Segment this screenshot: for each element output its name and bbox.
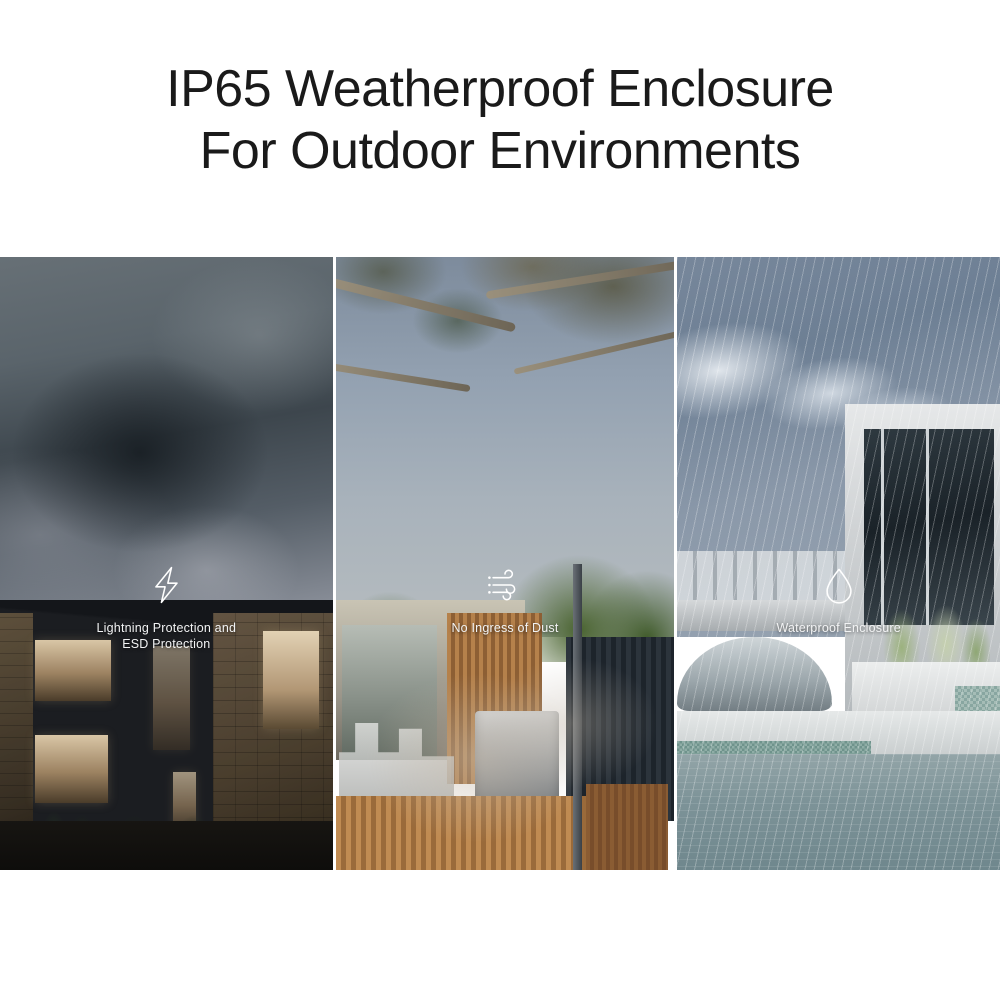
feature-panel-waterproof[interactable]: Waterproof Enclosure: [677, 257, 1000, 870]
pergola-post: [573, 564, 582, 871]
pool-sculpture: [677, 637, 832, 711]
glass-window-wall: [864, 429, 993, 625]
scene-patio-trees: [336, 257, 675, 870]
water-ripples: [677, 754, 1000, 870]
ground-pavement: [0, 821, 333, 870]
scene-rooftop-pool-rain: [677, 257, 1000, 870]
lit-window: [35, 640, 112, 701]
scene-storm-building: [0, 257, 333, 870]
wooden-planter: [586, 784, 667, 870]
page-title-line-2: For Outdoor Environments: [200, 120, 801, 182]
timber-deck: [336, 796, 607, 870]
city-skyline: [677, 551, 845, 606]
lit-window: [35, 735, 108, 802]
page-header: IP65 Weatherproof Enclosure For Outdoor …: [0, 0, 1000, 257]
marketing-feature-banner: IP65 Weatherproof Enclosure For Outdoor …: [0, 0, 1000, 1000]
window-mullion: [881, 429, 884, 625]
lit-window: [153, 646, 190, 750]
window-mullion: [926, 429, 929, 625]
feature-panels: Lightning Protection and ESD Protection: [0, 257, 1000, 870]
feature-panel-dust[interactable]: No Ingress of Dust: [336, 257, 675, 870]
lit-window: [263, 631, 320, 729]
storm-sky: [0, 257, 333, 613]
page-title-line-1: IP65 Weatherproof Enclosure: [166, 58, 834, 120]
feature-panel-lightning[interactable]: Lightning Protection and ESD Protection: [0, 257, 333, 870]
